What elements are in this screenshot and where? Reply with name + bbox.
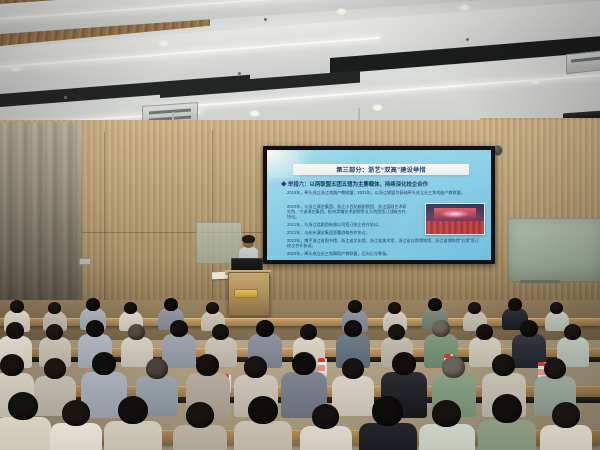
sprinkler-head-3: [238, 72, 241, 75]
slide-main-bullet: ◆ 举措六：以两联盟五团五馆为主要载体，持续深化校企合作: [281, 180, 481, 188]
person-head: [146, 358, 168, 379]
person-head: [124, 302, 137, 314]
lecture-hall-photo: 第三部分：浙艺“双高”建设举措 ◆ 举措六：以两联盟五团五馆为主要载体，持续深化…: [0, 0, 600, 450]
person-torso: [104, 421, 162, 450]
person-torso: [540, 425, 592, 450]
downlight-2: [459, 4, 470, 11]
person-head: [44, 358, 66, 379]
person-head: [128, 324, 145, 340]
person-head: [164, 298, 178, 311]
inset-photo-seats: [426, 221, 484, 234]
person-head: [206, 302, 219, 314]
person-head: [256, 320, 274, 337]
slide-title-bar: 第三部分：浙艺“双高”建设举措: [293, 164, 469, 175]
person-head: [432, 320, 450, 337]
person-head: [492, 354, 515, 376]
bottle-label: [318, 365, 325, 371]
ceiling-ac-cassette-right: [566, 50, 600, 74]
slide-sub-bullet-2: 2020年，与浙江演艺集团、浙江小百花越剧院团、浙江昆剧艺术研究院、宁波演艺集团…: [287, 204, 409, 219]
audience-area: [0, 296, 600, 450]
person-head: [62, 400, 90, 426]
downlight-5: [249, 110, 260, 117]
person-head: [372, 396, 403, 426]
person-head: [300, 324, 317, 340]
inset-photo-stage-glow: [440, 210, 470, 218]
person-torso: [0, 417, 51, 450]
person-torso: [173, 425, 227, 450]
slide-sub-bullet-1: 2019年，牵头成立浙江戏曲产教联盟；2021年，以浙江联盟为基础牵头成立长三角…: [287, 190, 479, 195]
person-head: [392, 352, 416, 375]
sprinkler-head-1: [264, 18, 267, 21]
person-head: [186, 402, 214, 428]
person-head: [92, 352, 116, 375]
person-head: [10, 300, 24, 313]
downlight-1: [336, 8, 347, 15]
person-head: [46, 324, 63, 340]
person-head: [86, 320, 104, 337]
person-head: [442, 356, 465, 378]
person-head: [348, 300, 362, 313]
ceiling: [0, 0, 600, 132]
person-head: [86, 298, 100, 311]
downlight-3: [158, 40, 169, 47]
person-head: [0, 354, 24, 376]
person-head: [118, 396, 148, 424]
downlight-7: [530, 78, 541, 85]
sprinkler-head-2: [466, 38, 469, 41]
person-head: [476, 324, 493, 340]
person-head: [428, 298, 442, 311]
person-head: [170, 320, 188, 337]
person-head: [468, 302, 481, 314]
person-head: [8, 392, 38, 420]
ac-vent-slat: [149, 109, 191, 115]
person-head: [312, 404, 339, 429]
person-torso: [478, 420, 536, 450]
sprinkler-head-4: [64, 96, 67, 99]
person-head: [544, 358, 566, 379]
presenter-hair: [242, 235, 255, 243]
slide-sub-bullet-6: 2022年，牵头成立长三角舞蹈产教联盟，迈向正在筹备。: [287, 251, 479, 256]
ac-vent-slat: [571, 57, 600, 63]
slide-inset-photo: [425, 203, 485, 235]
person-head: [508, 298, 522, 311]
person-head: [344, 320, 362, 337]
person-head: [196, 354, 219, 376]
slide-sub-bullet-5: 2022年，携手浙江省图书馆、浙江省文化馆、浙江省美术馆、浙江省自然博物馆、浙江…: [287, 238, 479, 248]
slide-sub-bullet-3: 2021年，与浙江话剧团有限公司签订校企合作协议。: [287, 222, 409, 227]
projection-screen[interactable]: 第三部分：浙艺“双高”建设举措 ◆ 举措六：以两联盟五团五馆为主要载体，持续深化…: [267, 150, 491, 260]
person-head: [292, 352, 316, 375]
person-torso: [234, 421, 292, 450]
slide-sub-bullet-4: 2021年，与杭州演艺集团签署战略合作协议。: [287, 230, 409, 235]
person-torso: [359, 423, 417, 450]
person-head: [552, 402, 580, 428]
person-torso: [300, 426, 352, 450]
person-torso: [419, 424, 475, 450]
person-head: [248, 396, 278, 424]
downlight-4: [10, 65, 21, 72]
person-head: [520, 320, 538, 337]
person-torso: [50, 423, 102, 450]
person-head: [388, 302, 401, 314]
person-head: [432, 400, 461, 427]
person-head: [564, 324, 581, 340]
slide-title-text: 第三部分：浙艺“双高”建设举措: [336, 165, 426, 174]
person-head: [48, 302, 61, 314]
person-head: [6, 322, 24, 339]
person-head: [342, 358, 364, 379]
person-torso: [162, 334, 196, 368]
person-head: [212, 324, 229, 340]
person-head: [550, 302, 563, 314]
person-head: [492, 394, 522, 423]
person-head: [388, 324, 405, 340]
downlight-6: [372, 104, 383, 111]
person-head: [244, 356, 267, 378]
bottle-cap: [318, 358, 325, 362]
person-torso: [332, 376, 374, 416]
